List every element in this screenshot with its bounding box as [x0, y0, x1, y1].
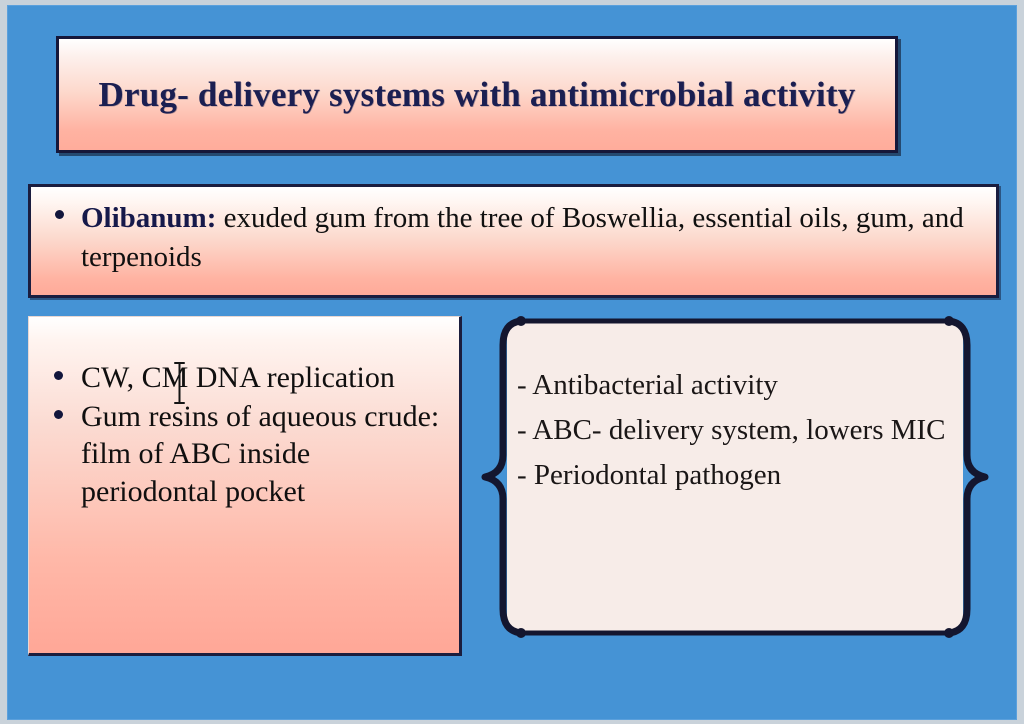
list-item: Gum resins of aqueous crude: film of ABC… — [45, 398, 447, 510]
corner-handle-icon — [944, 316, 954, 326]
corner-handle-icon — [944, 628, 954, 638]
left-content-box: CW, CM DNA replication Gum resins of aqu… — [28, 316, 462, 656]
corner-handle-icon — [516, 316, 526, 326]
list-item-label: Gum resins of aqueous crude: film of ABC… — [81, 400, 439, 507]
brace-list-item: - ABC- delivery system, lowers MIC — [517, 408, 953, 453]
title-box: Drug- delivery systems with antimicrobia… — [56, 36, 898, 153]
page-title: Drug- delivery systems with antimicrobia… — [81, 73, 874, 116]
brace-text-block: - Antibacterial activity - ABC- delivery… — [517, 363, 953, 498]
bullet-dot-icon — [55, 210, 64, 219]
bullet-dot-icon — [54, 371, 63, 380]
corner-handle-icon — [516, 628, 526, 638]
olibanum-text-line: Olibanum: exuded gum from the tree of Bo… — [47, 199, 980, 277]
list-item-label: CW, CM DNA replication — [81, 361, 395, 394]
brace-list-item: - Antibacterial activity — [517, 363, 953, 408]
list-item: CW, CM DNA replication — [45, 359, 447, 396]
slide-canvas: Drug- delivery systems with antimicrobia… — [0, 0, 1024, 724]
brace-content-box: - Antibacterial activity - ABC- delivery… — [473, 305, 997, 649]
brace-list-item: - Periodontal pathogen — [517, 453, 953, 498]
olibanum-box: Olibanum: exuded gum from the tree of Bo… — [28, 184, 999, 298]
olibanum-term: Olibanum: — [81, 202, 216, 234]
bullet-dot-icon — [54, 410, 63, 419]
slide-background: Drug- delivery systems with antimicrobia… — [7, 5, 1017, 720]
